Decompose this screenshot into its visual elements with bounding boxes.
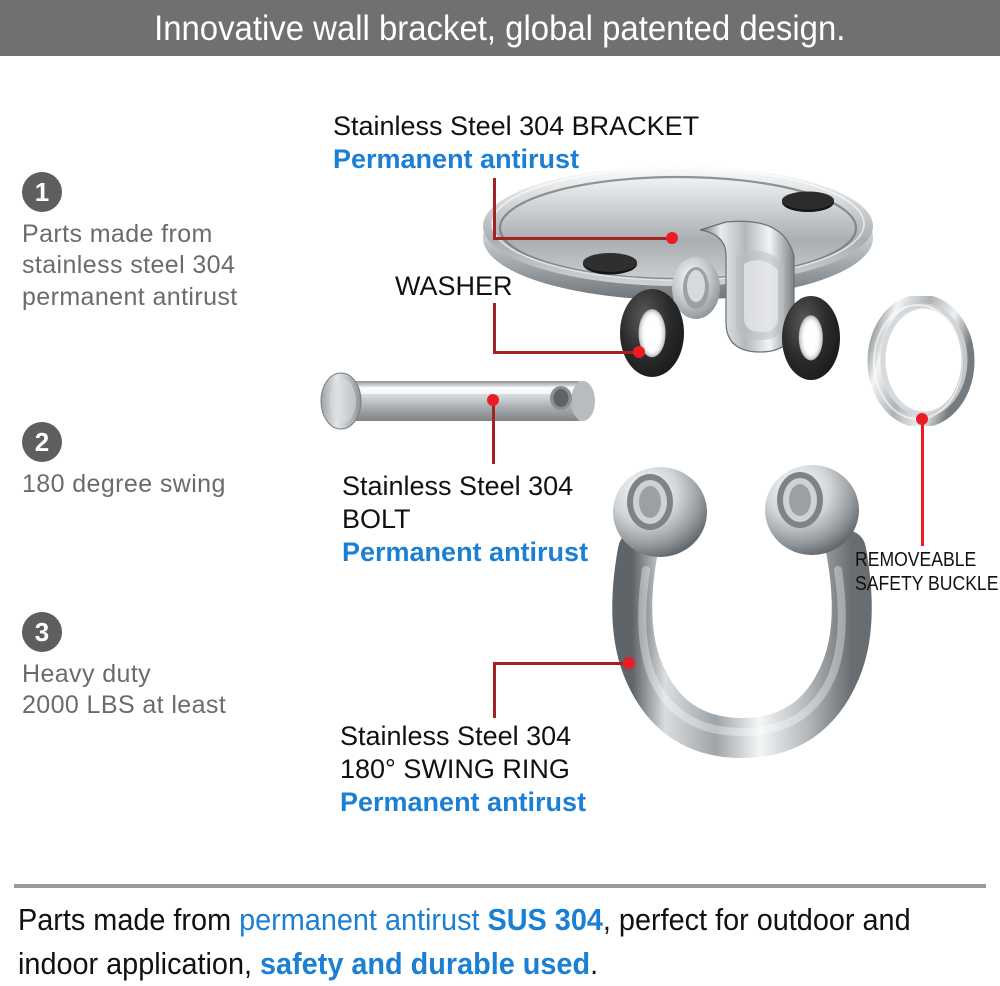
footer-part-1: Parts made from (18, 902, 239, 937)
leader-line-buckle-vertical (921, 418, 924, 546)
feature-badge-2: 2 (22, 422, 62, 462)
leader-line-bolt-vertical (492, 398, 495, 464)
footer-divider (14, 884, 986, 888)
callout-bolt-line2: BOLT (342, 503, 588, 536)
callout-buckle-line2: SAFETY BUCKLE (855, 573, 998, 597)
callout-ring-line3: Permanent antirust (340, 786, 586, 819)
feature-badge-1: 1 (22, 172, 62, 212)
feature-item-1: 1 Parts made from stainless steel 304 pe… (22, 172, 312, 313)
product-infographic: Innovative wall bracket, global patented… (0, 0, 1000, 986)
bracket-image (468, 160, 888, 390)
leader-line-washer-vertical (493, 303, 496, 353)
leader-line-ring-vertical (493, 662, 496, 718)
footer-part-2: permanent antirust (239, 902, 487, 937)
safety-buckle-image (862, 296, 980, 426)
callout-bracket-line1: Stainless Steel 304 BRACKET (333, 110, 699, 143)
callout-bolt-line1: Stainless Steel 304 (342, 470, 588, 503)
leader-dot-ring (623, 657, 635, 669)
callout-bolt: Stainless Steel 304 BOLT Permanent antir… (342, 470, 588, 569)
callout-bolt-line3: Permanent antirust (342, 536, 588, 569)
callout-ring-line1: Stainless Steel 304 (340, 720, 586, 753)
header-banner: Innovative wall bracket, global patented… (0, 0, 1000, 56)
feature-item-2: 2 180 degree swing (22, 422, 312, 500)
feature-item-3: 3 Heavy duty 2000 LBS at least (22, 612, 312, 722)
footer-part-6: . (590, 946, 598, 981)
leader-line-bracket-vertical (493, 178, 496, 240)
footer-text: Parts made from permanent antirust SUS 3… (18, 898, 918, 986)
leader-dot-buckle (916, 413, 928, 425)
feature-text-1: Parts made from stainless steel 304 perm… (22, 219, 312, 313)
callout-bracket-line2: Permanent antirust (333, 143, 699, 176)
callout-swing-ring: Stainless Steel 304 180° SWING RING Perm… (340, 720, 586, 819)
callout-buckle-line1: REMOVEABLE (855, 549, 998, 573)
footer-part-5: safety and durable used (260, 946, 590, 981)
leader-line-washer-horizontal (493, 351, 640, 354)
swing-ring-image (600, 440, 900, 800)
callout-washer: WASHER (395, 270, 513, 303)
feature-badge-3: 3 (22, 612, 62, 652)
feature-text-3: Heavy duty 2000 LBS at least (22, 659, 312, 722)
leader-dot-bracket (666, 232, 678, 244)
bolt-image (305, 372, 595, 434)
rubber-washer-right (782, 296, 840, 380)
leader-line-bracket-horizontal (493, 237, 673, 240)
banner-title: Innovative wall bracket, global patented… (154, 11, 845, 46)
callout-ring-line2: 180° SWING RING (340, 753, 586, 786)
callout-washer-line1: WASHER (395, 270, 513, 303)
leader-line-ring-horizontal (493, 662, 630, 665)
leader-dot-washer (633, 346, 645, 358)
leader-dot-bolt (487, 394, 499, 406)
rubber-washer-left (620, 289, 684, 377)
feature-text-2: 180 degree swing (22, 469, 312, 500)
callout-safety-buckle: REMOVEABLE SAFETY BUCKLE (855, 549, 1000, 596)
callout-bracket: Stainless Steel 304 BRACKET Permanent an… (333, 110, 699, 176)
footer-part-3: SUS 304 (488, 902, 603, 937)
